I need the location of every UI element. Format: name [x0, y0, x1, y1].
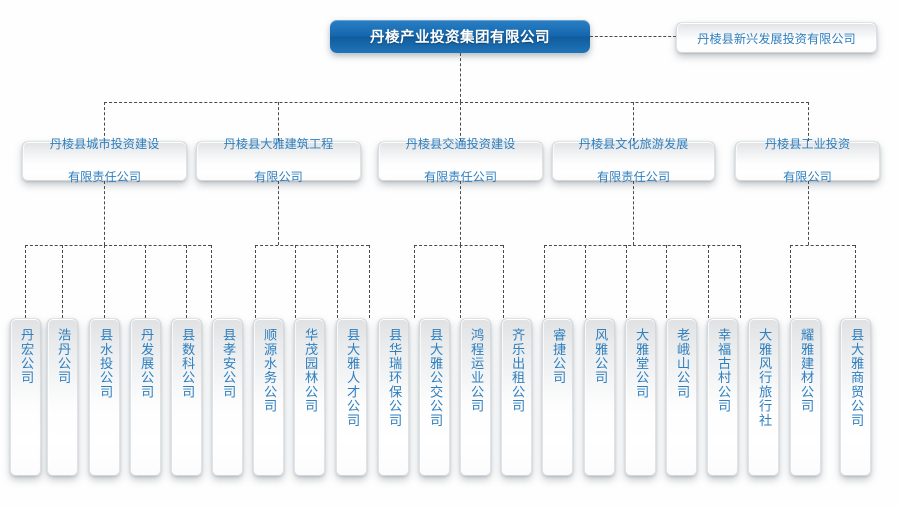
- subsidiary-node-shunyuan-water[interactable]: 顺源水务公司: [253, 318, 284, 476]
- connector-root-to-affiliate: [590, 36, 676, 37]
- subsidiary-label-14: 风雅公司: [591, 328, 608, 385]
- subsidiary-node-xian-daya-bus[interactable]: 县大雅公交公司: [419, 318, 450, 476]
- connector-leaf-drop-17: [708, 245, 709, 318]
- subsidiary-label-8: 县大雅人才公司: [343, 328, 360, 427]
- subsidiary-label-13: 睿捷公司: [549, 328, 566, 385]
- subsidiary-node-xian-xiaoan[interactable]: 县孝安公司: [212, 318, 243, 476]
- root-node-label: 丹棱产业投资集团有限公司: [370, 26, 550, 47]
- connector-division-1-drop: [278, 181, 279, 245]
- division-label-0: 丹棱县城市投资建设有限责任公司: [50, 136, 160, 186]
- division-label-2: 丹棱县交通投资建设有限责任公司: [406, 136, 516, 186]
- connector-leaf-drop-2: [104, 245, 105, 318]
- subsidiary-node-xian-shuke[interactable]: 县数科公司: [171, 318, 202, 476]
- connector-division-4-bus: [790, 245, 855, 246]
- subsidiary-label-18: 大雅风行旅行社: [755, 328, 772, 427]
- connector-leaf-drop-1: [62, 245, 63, 318]
- subsidiary-label-17: 幸福古村公司: [714, 328, 731, 413]
- subsidiary-label-6: 顺源水务公司: [260, 328, 277, 413]
- connector-division-2-bus: [414, 245, 503, 246]
- connector-division-1-bus: [255, 245, 369, 246]
- affiliate-node-label: 丹棱县新兴发展投资有限公司: [697, 29, 855, 47]
- subsidiary-node-huamao-landscape[interactable]: 华茂园林公司: [294, 318, 325, 476]
- connector-leaf-drop-19: [790, 245, 791, 318]
- connector-division-0-bus: [25, 245, 211, 246]
- subsidiary-label-11: 鸿程运业公司: [467, 328, 484, 413]
- subsidiary-node-xian-shuitou[interactable]: 县水投公司: [89, 318, 120, 476]
- division-label-3: 丹棱县文化旅游发展有限责任公司: [579, 136, 689, 186]
- connector-leaf-drop-11: [460, 245, 461, 318]
- subsidiary-label-5: 县孝安公司: [219, 328, 236, 399]
- subsidiary-label-10: 县大雅公交公司: [426, 328, 443, 427]
- subsidiary-node-yaoya-building-materials[interactable]: 耀雅建材公司: [790, 318, 821, 476]
- subsidiary-label-9: 县华瑞环保公司: [385, 328, 402, 427]
- connector-root-drop: [460, 53, 461, 102]
- connector-division-3-drop: [633, 181, 634, 245]
- subsidiary-label-1: 浩丹公司: [54, 328, 71, 385]
- connector-leaf-drop-8: [337, 245, 338, 318]
- subsidiary-node-qile-taxi[interactable]: 齐乐出租公司: [501, 318, 532, 476]
- division-label-4: 丹棱县工业投资有限公司: [765, 136, 850, 186]
- subsidiary-node-xingfu-ancient-village[interactable]: 幸福古村公司: [707, 318, 738, 476]
- subsidiary-label-12: 齐乐出租公司: [508, 328, 525, 413]
- subsidiary-node-dayatang[interactable]: 大雅堂公司: [625, 318, 656, 476]
- subsidiary-label-16: 老峨山公司: [673, 328, 690, 399]
- division-node-daya-building-engineering[interactable]: 丹棱县大雅建筑工程有限公司: [196, 141, 361, 181]
- subsidiary-label-2: 县水投公司: [96, 328, 113, 399]
- subsidiary-node-haodan[interactable]: 浩丹公司: [47, 318, 78, 476]
- division-node-culture-tourism-development[interactable]: 丹棱县文化旅游发展有限责任公司: [552, 141, 715, 181]
- subsidiary-node-fengya[interactable]: 风雅公司: [584, 318, 615, 476]
- connector-division-0-drop: [104, 181, 105, 245]
- connector-leaf-drop-10: [414, 245, 415, 318]
- connector-level2-bus: [104, 102, 809, 103]
- division-label-1: 丹棱县大雅建筑工程有限公司: [224, 136, 334, 186]
- subsidiary-node-xian-daya-trade[interactable]: 县大雅商贸公司: [840, 318, 871, 476]
- subsidiary-node-danhong[interactable]: 丹宏公司: [10, 318, 41, 476]
- subsidiary-node-danfazhan[interactable]: 丹发展公司: [130, 318, 161, 476]
- subsidiary-label-19: 耀雅建材公司: [797, 328, 814, 413]
- connector-leaf-drop-7: [295, 245, 296, 318]
- subsidiary-label-4: 县数科公司: [178, 328, 195, 399]
- connector-leaf-drop-14: [585, 245, 586, 318]
- org-chart-canvas: 丹棱产业投资集团有限公司 丹棱县新兴发展投资有限公司 丹棱县城市投资建设有限责任…: [0, 0, 900, 506]
- subsidiary-node-xian-huarui-environment[interactable]: 县华瑞环保公司: [378, 318, 409, 476]
- root-node-danling-industrial-investment-group[interactable]: 丹棱产业投资集团有限公司: [330, 20, 590, 53]
- subsidiary-node-laoeshan[interactable]: 老峨山公司: [666, 318, 697, 476]
- subsidiary-label-0: 丹宏公司: [17, 328, 34, 385]
- division-node-transport-investment-construction[interactable]: 丹棱县交通投资建设有限责任公司: [378, 141, 543, 181]
- subsidiary-label-7: 华茂园林公司: [301, 328, 318, 413]
- connector-leaf-drop-4: [186, 245, 187, 318]
- division-node-city-investment-construction[interactable]: 丹棱县城市投资建设有限责任公司: [22, 141, 187, 181]
- connector-leaf-drop-15: [626, 245, 627, 318]
- subsidiary-label-3: 丹发展公司: [137, 328, 154, 399]
- connector-leaf-drop-3: [145, 245, 146, 318]
- connector-division-4-drop: [808, 181, 809, 245]
- subsidiary-node-xian-daya-talent[interactable]: 县大雅人才公司: [336, 318, 367, 476]
- subsidiary-node-hongcheng-transport[interactable]: 鸿程运业公司: [460, 318, 491, 476]
- division-node-industrial-investment[interactable]: 丹棱县工业投资有限公司: [735, 141, 880, 181]
- connector-leaf-drop-18: [740, 245, 741, 318]
- connector-leaf-drop-20: [855, 245, 856, 318]
- connector-leaf-drop-12: [503, 245, 504, 318]
- connector-division-3-bus: [544, 245, 740, 246]
- connector-leaf-drop-9: [369, 245, 370, 318]
- subsidiary-label-20: 县大雅商贸公司: [847, 328, 864, 427]
- connector-leaf-drop-6: [255, 245, 256, 318]
- connector-leaf-drop-5: [211, 245, 212, 318]
- connector-division-2-drop: [460, 181, 461, 245]
- affiliate-node-danling-xinxing-development-investment[interactable]: 丹棱县新兴发展投资有限公司: [676, 22, 877, 53]
- subsidiary-node-dayafengxing-travel-agency[interactable]: 大雅风行旅行社: [748, 318, 779, 476]
- subsidiary-node-ruijie[interactable]: 睿捷公司: [542, 318, 573, 476]
- connector-leaf-drop-16: [666, 245, 667, 318]
- subsidiary-label-15: 大雅堂公司: [632, 328, 649, 399]
- connector-leaf-drop-13: [544, 245, 545, 318]
- connector-leaf-drop-0: [25, 245, 26, 318]
